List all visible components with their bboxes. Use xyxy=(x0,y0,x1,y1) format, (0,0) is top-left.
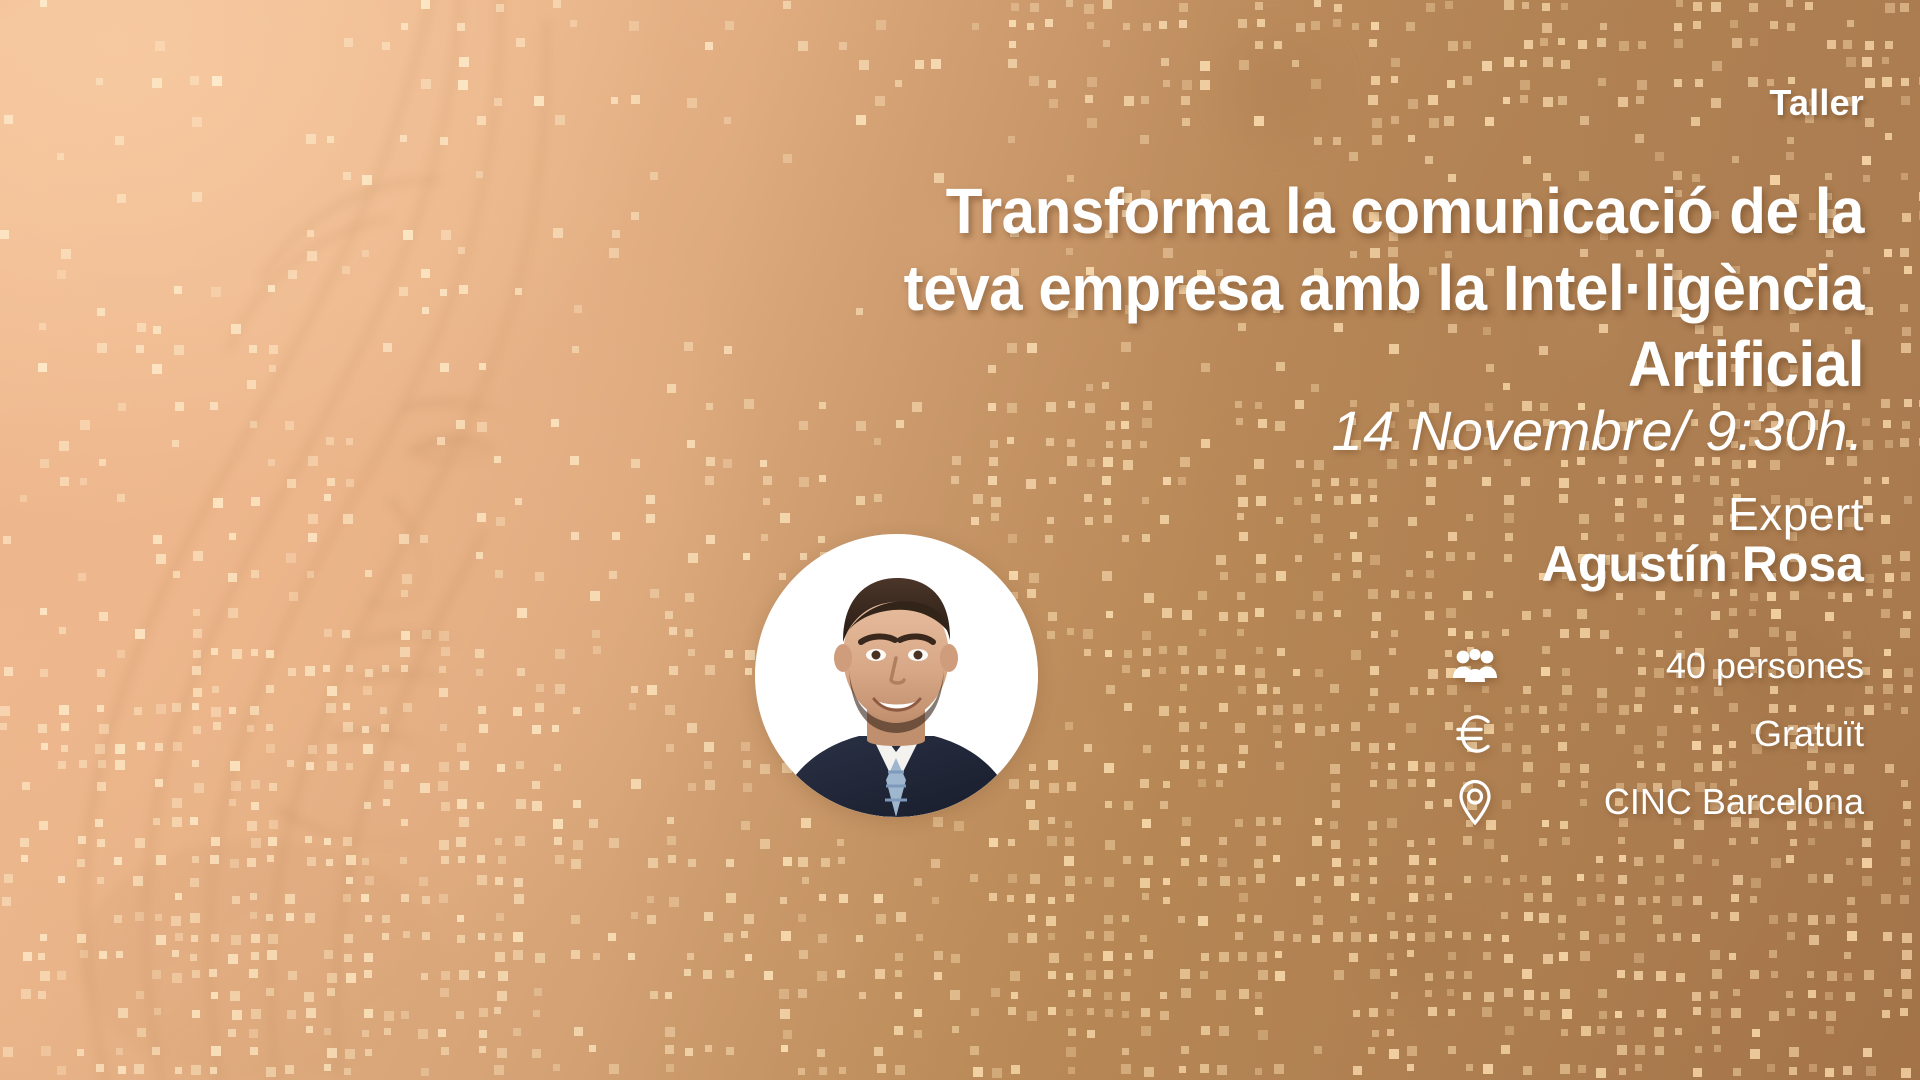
event-poster: Taller Transforma la comunicació de la t… xyxy=(0,0,1920,1080)
detail-row-capacity: 40 persones xyxy=(1444,640,1864,692)
location-icon xyxy=(1444,776,1506,828)
poster-content: Taller Transforma la comunicació de la t… xyxy=(0,0,1920,1080)
detail-row-location: CINC Barcelona xyxy=(1444,776,1864,828)
detail-value-capacity: 40 persones xyxy=(1666,645,1864,687)
euro-icon xyxy=(1444,708,1506,760)
expert-label: Expert xyxy=(964,487,1864,541)
people-icon xyxy=(1444,640,1506,692)
detail-value-price: Gratuït xyxy=(1754,713,1864,755)
detail-row-price: Gratuït xyxy=(1444,708,1864,760)
event-kicker: Taller xyxy=(1769,82,1864,124)
expert-name: Agustín Rosa xyxy=(964,535,1864,593)
event-details-list: 40 persones Gratuït xyxy=(1444,640,1864,828)
event-datetime: 14 Novembre/ 9:30h. xyxy=(764,400,1864,462)
expert-portrait-photo xyxy=(755,534,1038,817)
event-title: Transforma la comunicació de la teva emp… xyxy=(811,173,1864,403)
detail-value-location: CINC Barcelona xyxy=(1604,781,1864,823)
